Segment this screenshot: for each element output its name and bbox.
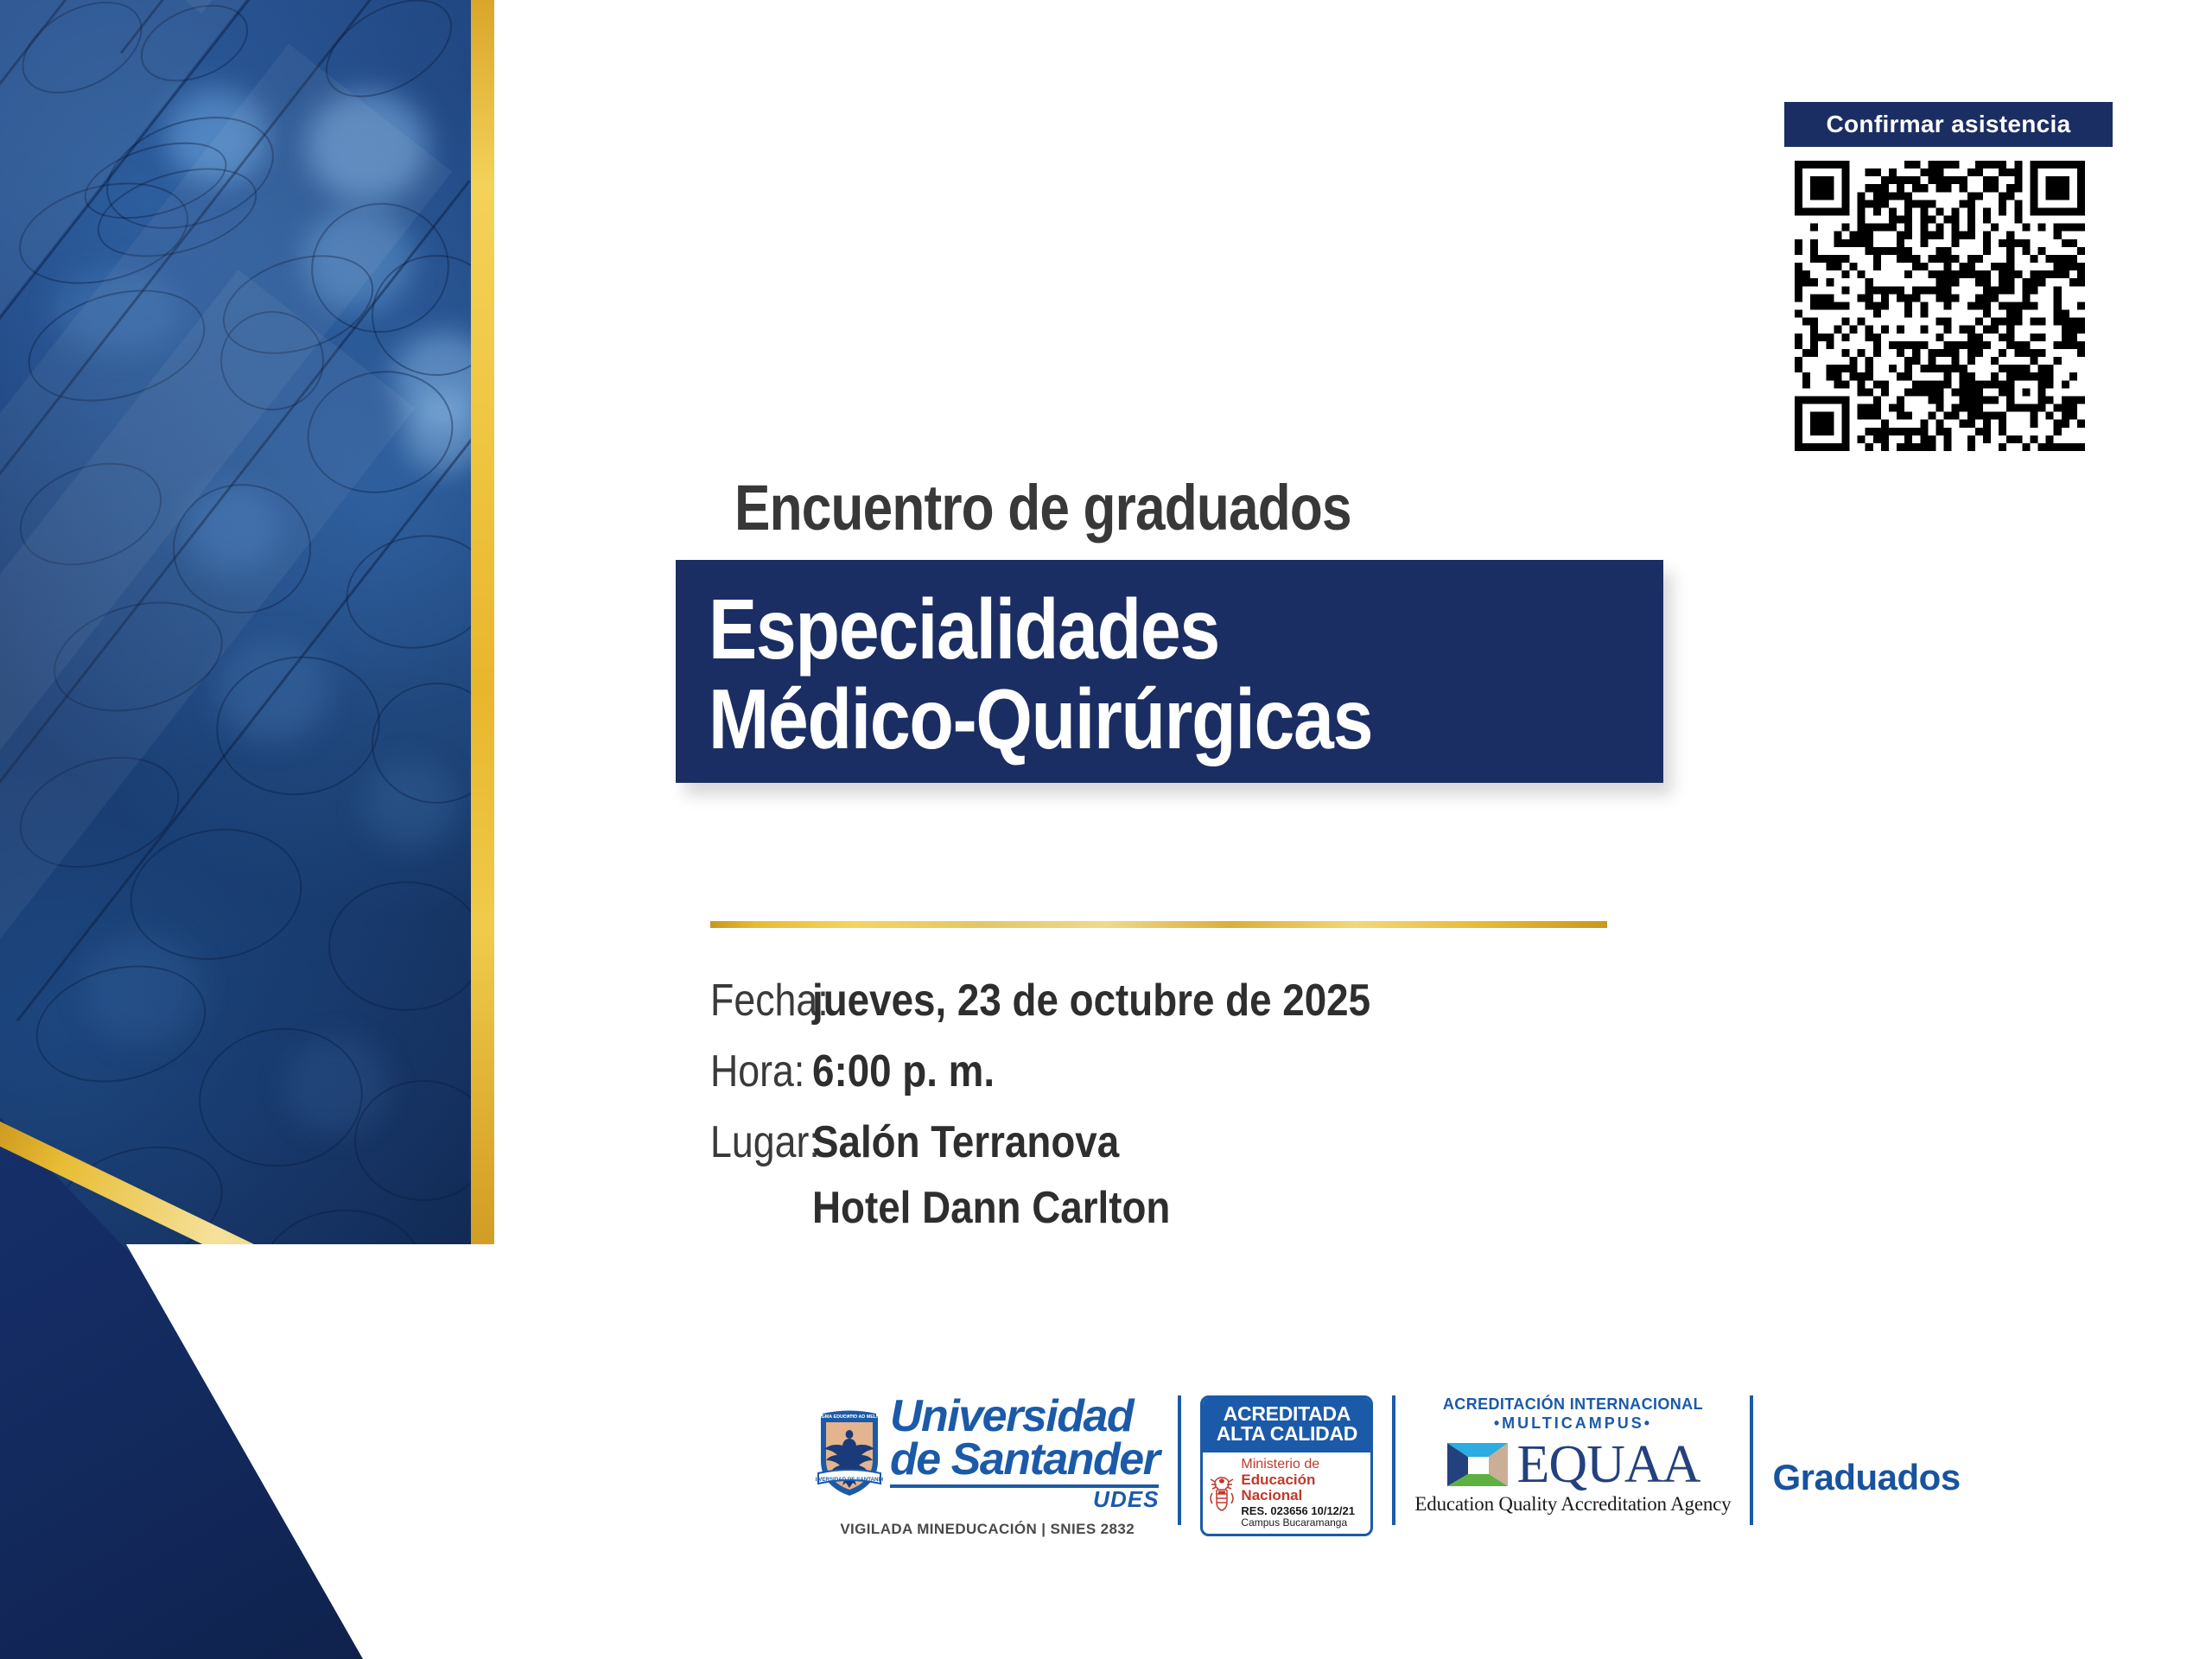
seal-campus: Campus Bucaramanga <box>1241 1517 1365 1529</box>
footer-divider-2 <box>1392 1395 1395 1525</box>
udes-legal-text: VIGILADA MINEDUCACIÓN | SNIES 2832 <box>840 1521 1135 1538</box>
gold-vertical-strip <box>471 0 494 1328</box>
confirm-attendance-label: Confirmar asistencia <box>1827 111 2071 138</box>
seal-ministry-line-1: Ministerio de <box>1241 1458 1365 1472</box>
colombia-coat-of-arms-icon <box>1207 1474 1236 1512</box>
qr-code-canvas[interactable] <box>1795 161 2085 451</box>
detail-value-fecha: jueves, 23 de octubre de 2025 <box>812 975 1370 1027</box>
graduados-label: Graduados <box>1772 1457 1960 1498</box>
detail-row-fecha: Fecha: jueves, 23 de octubre de 2025 <box>710 975 1446 1027</box>
seal-resolution: RES. 023656 10/12/21 <box>1241 1505 1365 1517</box>
equaa-top-line-2: •MULTICAMPUS• <box>1494 1414 1652 1433</box>
detail-label-fecha: Fecha: <box>710 975 798 1027</box>
detail-row-lugar: Lugar: Salón Terranova <box>710 1116 1446 1168</box>
seal-header: ACREDITADA ALTA CALIDAD <box>1203 1398 1370 1452</box>
seal-body: Ministerio de Educación Nacional RES. 02… <box>1203 1452 1370 1534</box>
confirm-attendance-block[interactable]: Confirmar asistencia <box>1784 102 2113 451</box>
gold-divider-rule <box>710 921 1607 928</box>
footer-logo-strip: MAGMA EDUCATIO AD MELIOR UNIVERSIDAD DE … <box>816 1395 1961 1538</box>
shield-motto-bottom: UNIVERSIDAD DE SANTANDER <box>816 1477 883 1483</box>
equaa-wordmark: EQUAA <box>1516 1438 1700 1491</box>
udes-abbreviation: UDES <box>890 1489 1159 1510</box>
event-details-list: Fecha: jueves, 23 de octubre de 2025 Hor… <box>710 975 1446 1234</box>
udes-wordmark-line-1: Universidad <box>890 1395 1159 1439</box>
event-eyebrow-title: Encuentro de graduados <box>734 471 1351 544</box>
equaa-subtitle: Education Quality Accreditation Agency <box>1414 1493 1731 1516</box>
equaa-top-line-1: ACREDITACIÓN INTERNACIONAL <box>1443 1395 1703 1414</box>
event-title-line-2: Médico-Quirúrgicas <box>709 671 1372 768</box>
decorative-left-panel <box>0 0 494 1659</box>
equaa-logo: ACREDITACIÓN INTERNACIONAL •MULTICAMPUS•… <box>1414 1395 1731 1516</box>
detail-value-hora: 6:00 p. m. <box>812 1046 995 1097</box>
seal-ministry-line-2: Educación Nacional <box>1241 1472 1365 1503</box>
seal-line-2: ALTA CALIDAD <box>1206 1424 1367 1444</box>
event-title-line-1: Especialidades <box>709 581 1219 678</box>
pattern-ring <box>328 881 484 1011</box>
footer-divider-3 <box>1750 1395 1753 1525</box>
shield-motto-top: MAGMA EDUCATIO AD MELIOR <box>816 1414 883 1420</box>
event-title-block: Especialidades Médico-Quirúrgicas <box>676 560 1663 783</box>
main-content-area: Confirmar asistencia Encuentro de gradua… <box>494 0 2212 1659</box>
detail-label-hora: Hora: <box>710 1046 798 1097</box>
qr-code-icon[interactable] <box>1795 161 2085 451</box>
equaa-mark-icon <box>1446 1438 1510 1491</box>
detail-label-lugar: Lugar: <box>710 1116 798 1168</box>
udes-shield-icon: MAGMA EDUCATIO AD MELIOR UNIVERSIDAD DE … <box>816 1406 883 1499</box>
footer-divider-1 <box>1178 1395 1181 1525</box>
detail-value-lugar-line-2: Hotel Dann Carlton <box>812 1182 1370 1234</box>
seal-line-1: ACREDITADA <box>1206 1404 1367 1424</box>
udes-wordmark-line-2: de Santander <box>890 1439 1159 1482</box>
detail-value-lugar: Salón Terranova <box>812 1116 1119 1168</box>
confirm-attendance-badge[interactable]: Confirmar asistencia <box>1784 102 2113 147</box>
detail-row-hora: Hora: 6:00 p. m. <box>710 1046 1446 1097</box>
udes-logo: MAGMA EDUCATIO AD MELIOR UNIVERSIDAD DE … <box>816 1395 1159 1538</box>
accreditation-seal: ACREDITADA ALTA CALIDAD <box>1200 1395 1373 1536</box>
